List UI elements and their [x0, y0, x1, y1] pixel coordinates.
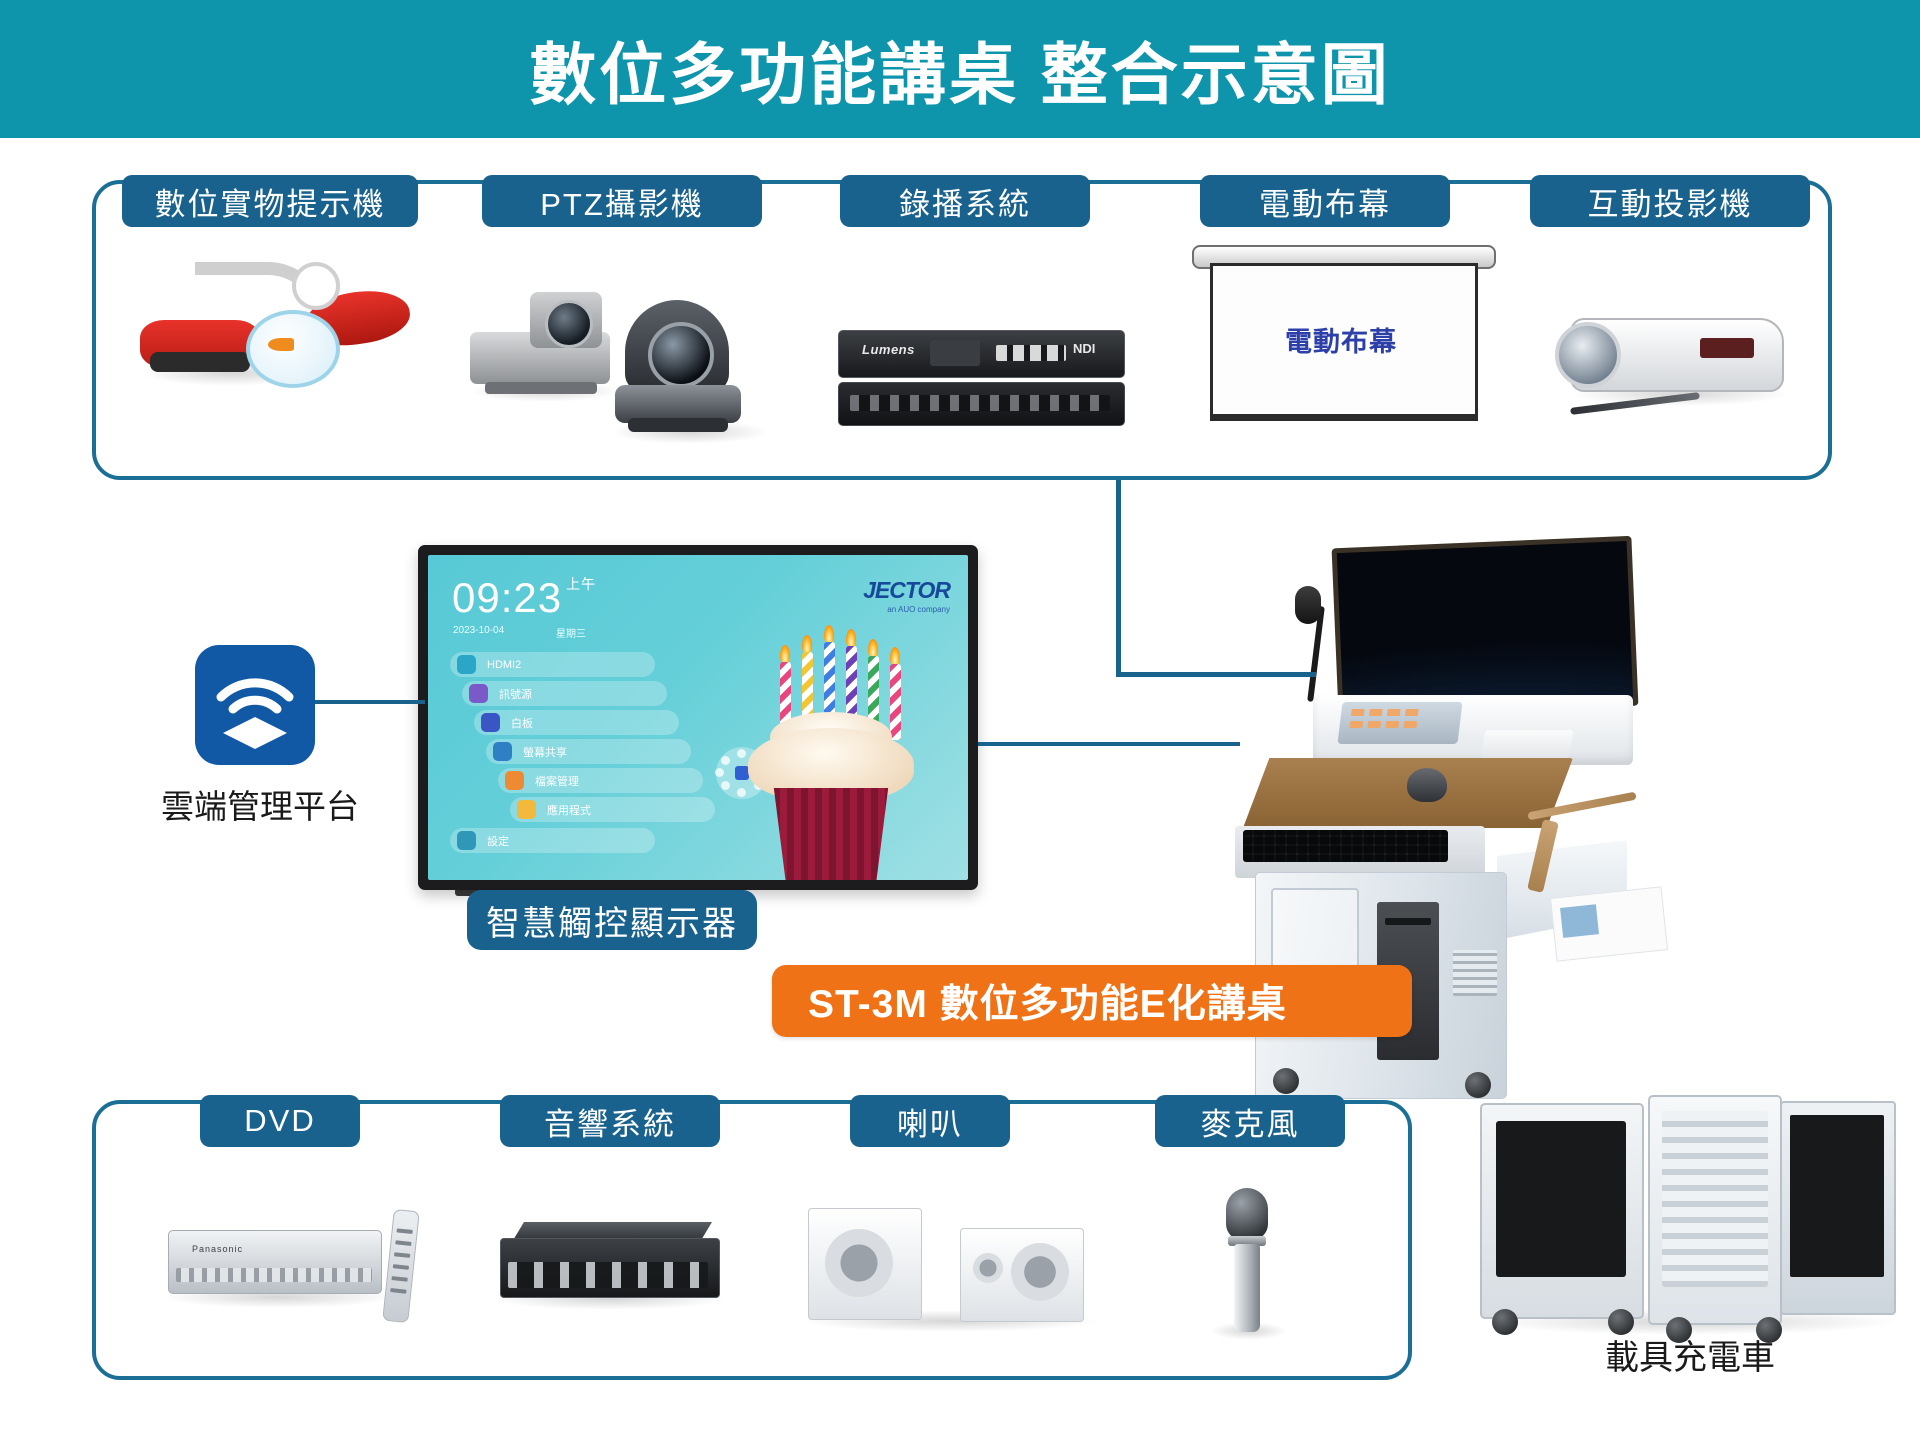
label-recording-system[interactable]: 錄播系統 [840, 175, 1090, 227]
cart-open-cabinet [1648, 1095, 1782, 1325]
connector-elbow-vertical [1116, 480, 1121, 676]
label-dvd[interactable]: DVD [200, 1095, 360, 1147]
gooseneck-mic-head [1295, 586, 1321, 624]
hdmi-input-icon [457, 655, 476, 674]
page-title: 數位多功能講桌 整合示意圖 [529, 21, 1391, 118]
label-speaker[interactable]: 喇叭 [850, 1095, 1010, 1147]
logo-text: JECTOR [863, 577, 950, 604]
monitor-wallpaper [1337, 541, 1633, 713]
recorder-ndi-badge: NDI [1073, 341, 1095, 356]
recorder-brand: Lumens [862, 342, 915, 357]
menu-item-settings[interactable]: 設定 [450, 828, 655, 853]
label-microphone[interactable]: 麥克風 [1155, 1095, 1345, 1147]
label-text: 數位實物提示機 [155, 179, 386, 224]
screen-caption: 電動布幕 [1210, 320, 1472, 359]
screen-clock: 09:23上午 [452, 577, 596, 619]
screen-weekday: 星期三 [556, 625, 586, 640]
menu-label: 螢幕共享 [523, 744, 567, 760]
label-ptz-camera[interactable]: PTZ攝影機 [482, 175, 762, 227]
menu-item-hdmi2[interactable]: HDMI2 [450, 652, 655, 677]
clock-ampm: 上午 [566, 576, 596, 592]
menu-item-screen-share[interactable]: 螢幕共享 [486, 739, 691, 764]
dvd-brand-text: Panasonic [192, 1244, 243, 1254]
page-header: 數位多功能講桌 整合示意圖 [0, 0, 1920, 138]
whiteboard-icon [481, 713, 500, 732]
connector-elbow-horizontal [1116, 672, 1316, 677]
menu-label: 白板 [511, 715, 533, 731]
connector-cloud-to-display [315, 700, 425, 704]
lectern-monitor [1332, 536, 1639, 718]
charging-cart-label: 載具充電車 [1480, 1330, 1900, 1379]
logo-subtext: an AUO company [863, 605, 950, 614]
settings-gear-icon [457, 831, 476, 850]
label-document-camera[interactable]: 數位實物提示機 [122, 175, 418, 227]
menu-label: 應用程式 [547, 802, 591, 818]
label-text: 互動投影機 [1588, 179, 1753, 224]
menu-label: 檔案管理 [535, 773, 579, 789]
document-sheet [1550, 886, 1668, 961]
mouse [1407, 768, 1447, 802]
smart-touch-display[interactable]: 09:23上午 2023-10-04 星期三 JECTOR an AUO com… [418, 545, 978, 890]
menu-label: 訊號源 [499, 686, 532, 702]
menu-item-signal-source[interactable]: 訊號源 [462, 681, 667, 706]
cart-closed-cabinet [1480, 1103, 1644, 1319]
lectern-tablet-tray [1481, 730, 1574, 758]
menu-item-apps[interactable]: 應用程式 [510, 797, 715, 822]
cart-cabinet-door [1780, 1101, 1896, 1315]
charging-cart-icon [1480, 1095, 1900, 1345]
lectern-model-banner: ST-3M 數位多功能E化講桌 [772, 965, 1412, 1037]
label-text: 錄播系統 [899, 179, 1031, 224]
pc-drive-slot [1385, 918, 1431, 925]
cloud-platform-label: 雲端管理平台 [140, 780, 380, 828]
file-manager-icon [505, 771, 524, 790]
menu-item-whiteboard[interactable]: 白板 [474, 710, 679, 735]
label-interactive-projector[interactable]: 互動投影機 [1530, 175, 1810, 227]
label-text: DVD [244, 1103, 315, 1139]
lectern-model-text: ST-3M 數位多功能E化講桌 [772, 973, 1287, 1029]
label-text: PTZ攝影機 [540, 179, 704, 224]
signal-source-icon [469, 684, 488, 703]
connector-display-to-lectern [978, 742, 1240, 746]
control-panel[interactable] [1337, 702, 1462, 744]
screen-menu-list: HDMI2 訊號源 白板 螢幕共享 檔案管理 應用程式 [450, 652, 685, 857]
screen-date: 2023-10-04 [453, 625, 504, 636]
cabinet-vent [1453, 950, 1497, 996]
clock-time: 09:23 [452, 574, 562, 621]
label-text: 音響系統 [544, 1099, 676, 1144]
label-text: 喇叭 [897, 1099, 963, 1144]
menu-label: HDMI2 [487, 659, 521, 671]
menu-item-file-manager[interactable]: 檔案管理 [498, 768, 703, 793]
label-smart-touch-display[interactable]: 智慧觸控顯示器 [467, 890, 757, 950]
apps-grid-icon [517, 800, 536, 819]
label-audio-system[interactable]: 音響系統 [500, 1095, 720, 1147]
display-screen: 09:23上午 2023-10-04 星期三 JECTOR an AUO com… [428, 555, 968, 880]
screen-share-icon [493, 742, 512, 761]
wifi-cloud-icon[interactable] [195, 645, 315, 765]
label-motorized-screen[interactable]: 電動布幕 [1200, 175, 1450, 227]
label-text: 麥克風 [1201, 1099, 1300, 1144]
label-text: 電動布幕 [1259, 179, 1391, 224]
cupcake-wallpaper [704, 630, 954, 880]
caster-wheel [1273, 1068, 1299, 1094]
label-text: 智慧觸控顯示器 [486, 896, 738, 945]
jector-logo: JECTOR an AUO company [863, 577, 950, 614]
keyboard [1243, 830, 1448, 862]
menu-label: 設定 [487, 833, 509, 849]
